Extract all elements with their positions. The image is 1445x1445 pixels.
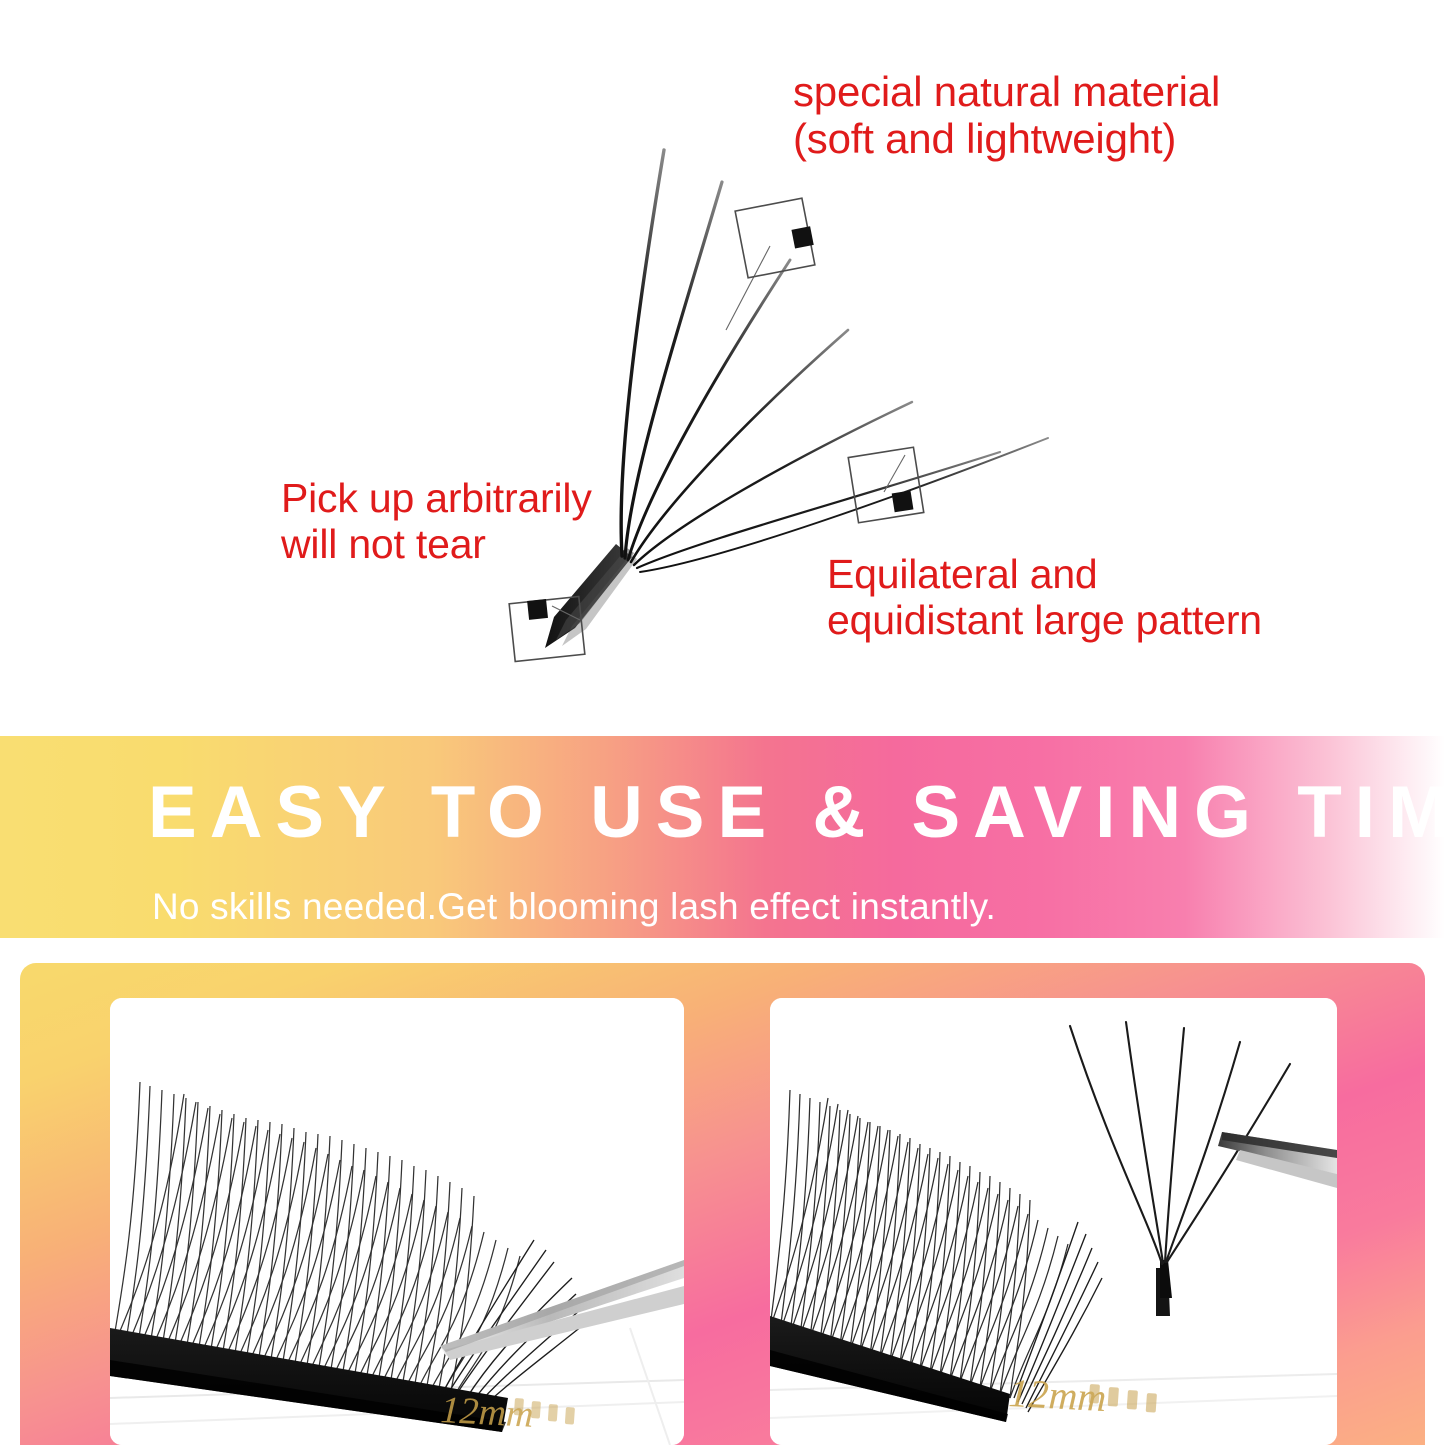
callout-equilateral-equidistant: Equilateral and equidistant large patter… [827, 552, 1262, 644]
callout-special-natural-material: special natural material (soft and light… [793, 68, 1220, 162]
callout-pick-up-arbitrarily: Pick up arbitrarily will not tear [281, 476, 592, 568]
banner-subtitle: No skills needed.Get blooming lash effec… [152, 888, 996, 925]
photos-section: 12mm [0, 938, 1445, 1445]
photos-gradient-panel: 12mm [20, 963, 1425, 1445]
banner-title: EASY TO USE & SAVING TIME [148, 776, 1408, 849]
photo-card-lash-tray-with-tweezers: 12mm [110, 998, 684, 1445]
photo-lash-tray-with-tweezers: 12mm [110, 998, 684, 1445]
marker-upper [735, 198, 815, 278]
diagram-section: special natural material (soft and light… [0, 0, 1445, 736]
lash-fibers [621, 150, 1048, 572]
photo-card-lash-fan-lifted: 12mm [770, 998, 1337, 1445]
photo-lash-fan-lifted: 12mm [770, 998, 1337, 1445]
marker-right [848, 447, 924, 523]
banner-section: EASY TO USE & SAVING TIME No skills need… [0, 736, 1445, 938]
